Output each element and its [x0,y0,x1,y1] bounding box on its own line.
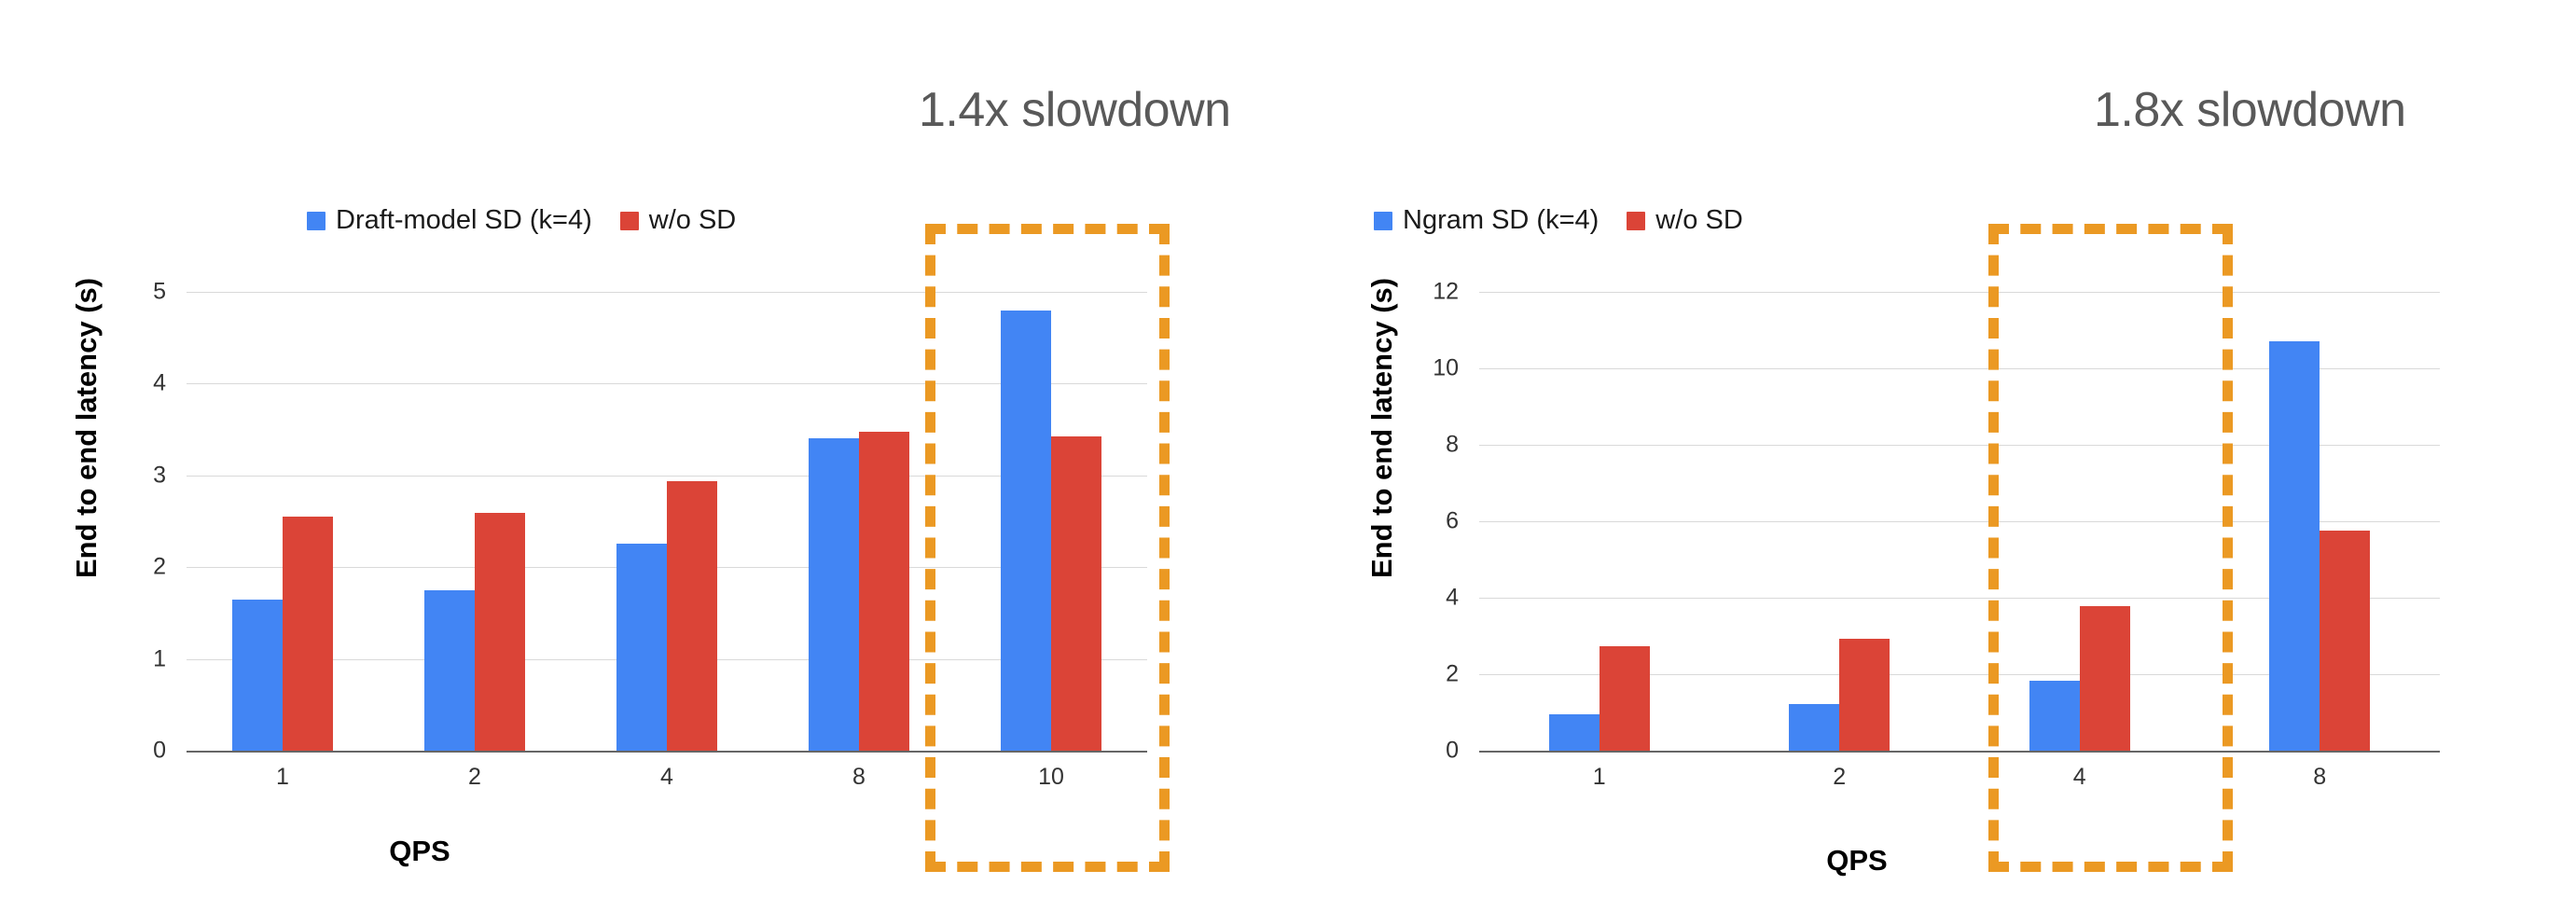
y-tick-label: 0 [1393,738,1459,765]
bar-group: 4 [1960,292,2200,751]
bar-group: 2 [1720,292,1960,751]
bar-group: 8 [763,292,955,751]
y-tick-label: 5 [101,279,166,306]
legend-entry-wo-sd[interactable]: w/o SD [1627,207,1742,234]
x-tick-label: 2 [1720,764,1960,791]
y-tick-label: 3 [101,462,166,489]
bar[interactable] [1549,714,1600,751]
bar[interactable] [2320,531,2370,751]
bar-group: 4 [571,292,763,751]
legend-right: Ngram SD (k=4) w/o SD [1374,207,1743,234]
x-axis-title-right: QPS [1624,844,2090,877]
axis-baseline [1479,751,2440,753]
bar[interactable] [1789,704,1839,751]
y-tick-label: 6 [1393,508,1459,535]
y-tick-label: 2 [101,554,166,581]
bar[interactable] [667,481,717,751]
bar[interactable] [616,544,667,751]
bar[interactable] [1839,639,1890,751]
y-tick-label: 0 [101,738,166,765]
bar-group: 2 [379,292,571,751]
slowdown-annotation-right: 1.8x slowdown [2094,82,2406,138]
bar-groups: 1248 [1479,292,2440,751]
x-axis-title-left: QPS [187,835,653,868]
bar[interactable] [1001,311,1051,751]
legend-entry-ngram-sd[interactable]: Ngram SD (k=4) [1374,207,1599,234]
legend-label-wo-sd: w/o SD [1655,207,1742,234]
bar[interactable] [232,600,283,751]
legend-swatch-blue-icon [1374,212,1392,230]
axis-baseline [187,751,1147,753]
legend-swatch-red-icon [620,212,639,230]
x-tick-label: 10 [955,764,1147,791]
x-tick-label: 4 [571,764,763,791]
legend-entry-draft-model-sd[interactable]: Draft-model SD (k=4) [307,207,592,234]
legend-left: Draft-model SD (k=4) w/o SD [307,207,736,234]
y-tick-label: 12 [1393,279,1459,306]
bar-group: 1 [187,292,379,751]
bar-group: 1 [1479,292,1720,751]
bar[interactable] [475,513,525,751]
legend-entry-wo-sd[interactable]: w/o SD [620,207,736,234]
chart-panel-right: 1.8x slowdown Ngram SD (k=4) w/o SD End … [1288,0,2576,912]
bar[interactable] [424,590,475,751]
y-tick-label: 8 [1393,432,1459,459]
bar[interactable] [283,517,333,751]
y-tick-label: 4 [101,370,166,397]
slowdown-annotation-left: 1.4x slowdown [919,82,1231,138]
bar-group: 10 [955,292,1147,751]
legend-label-draft-model-sd: Draft-model SD (k=4) [336,207,592,234]
bar[interactable] [1600,646,1650,751]
x-tick-label: 8 [763,764,955,791]
x-tick-label: 1 [1479,764,1720,791]
legend-label-wo-sd: w/o SD [649,207,736,234]
y-axis-title-left: End to end latency (s) [70,278,104,578]
x-tick-label: 1 [187,764,379,791]
plot-area-left: 012345124810 [187,292,1147,751]
bar-groups: 124810 [187,292,1147,751]
legend-label-ngram-sd: Ngram SD (k=4) [1403,207,1599,234]
bar[interactable] [2080,606,2130,751]
x-tick-label: 4 [1960,764,2200,791]
y-tick-label: 1 [101,645,166,672]
bar[interactable] [1051,436,1101,751]
legend-swatch-blue-icon [307,212,325,230]
y-tick-label: 4 [1393,585,1459,612]
plot-area-right: 0246810121248 [1479,292,2440,751]
y-tick-label: 2 [1393,661,1459,688]
chart-panel-left: 1.4x slowdown Draft-model SD (k=4) w/o S… [0,0,1288,912]
bar[interactable] [2269,341,2320,751]
x-tick-label: 8 [2200,764,2441,791]
bar[interactable] [859,432,909,751]
y-tick-label: 10 [1393,355,1459,382]
x-tick-label: 2 [379,764,571,791]
legend-swatch-red-icon [1627,212,1645,230]
bar[interactable] [809,438,859,751]
bar[interactable] [2029,681,2080,751]
bar-group: 8 [2200,292,2441,751]
